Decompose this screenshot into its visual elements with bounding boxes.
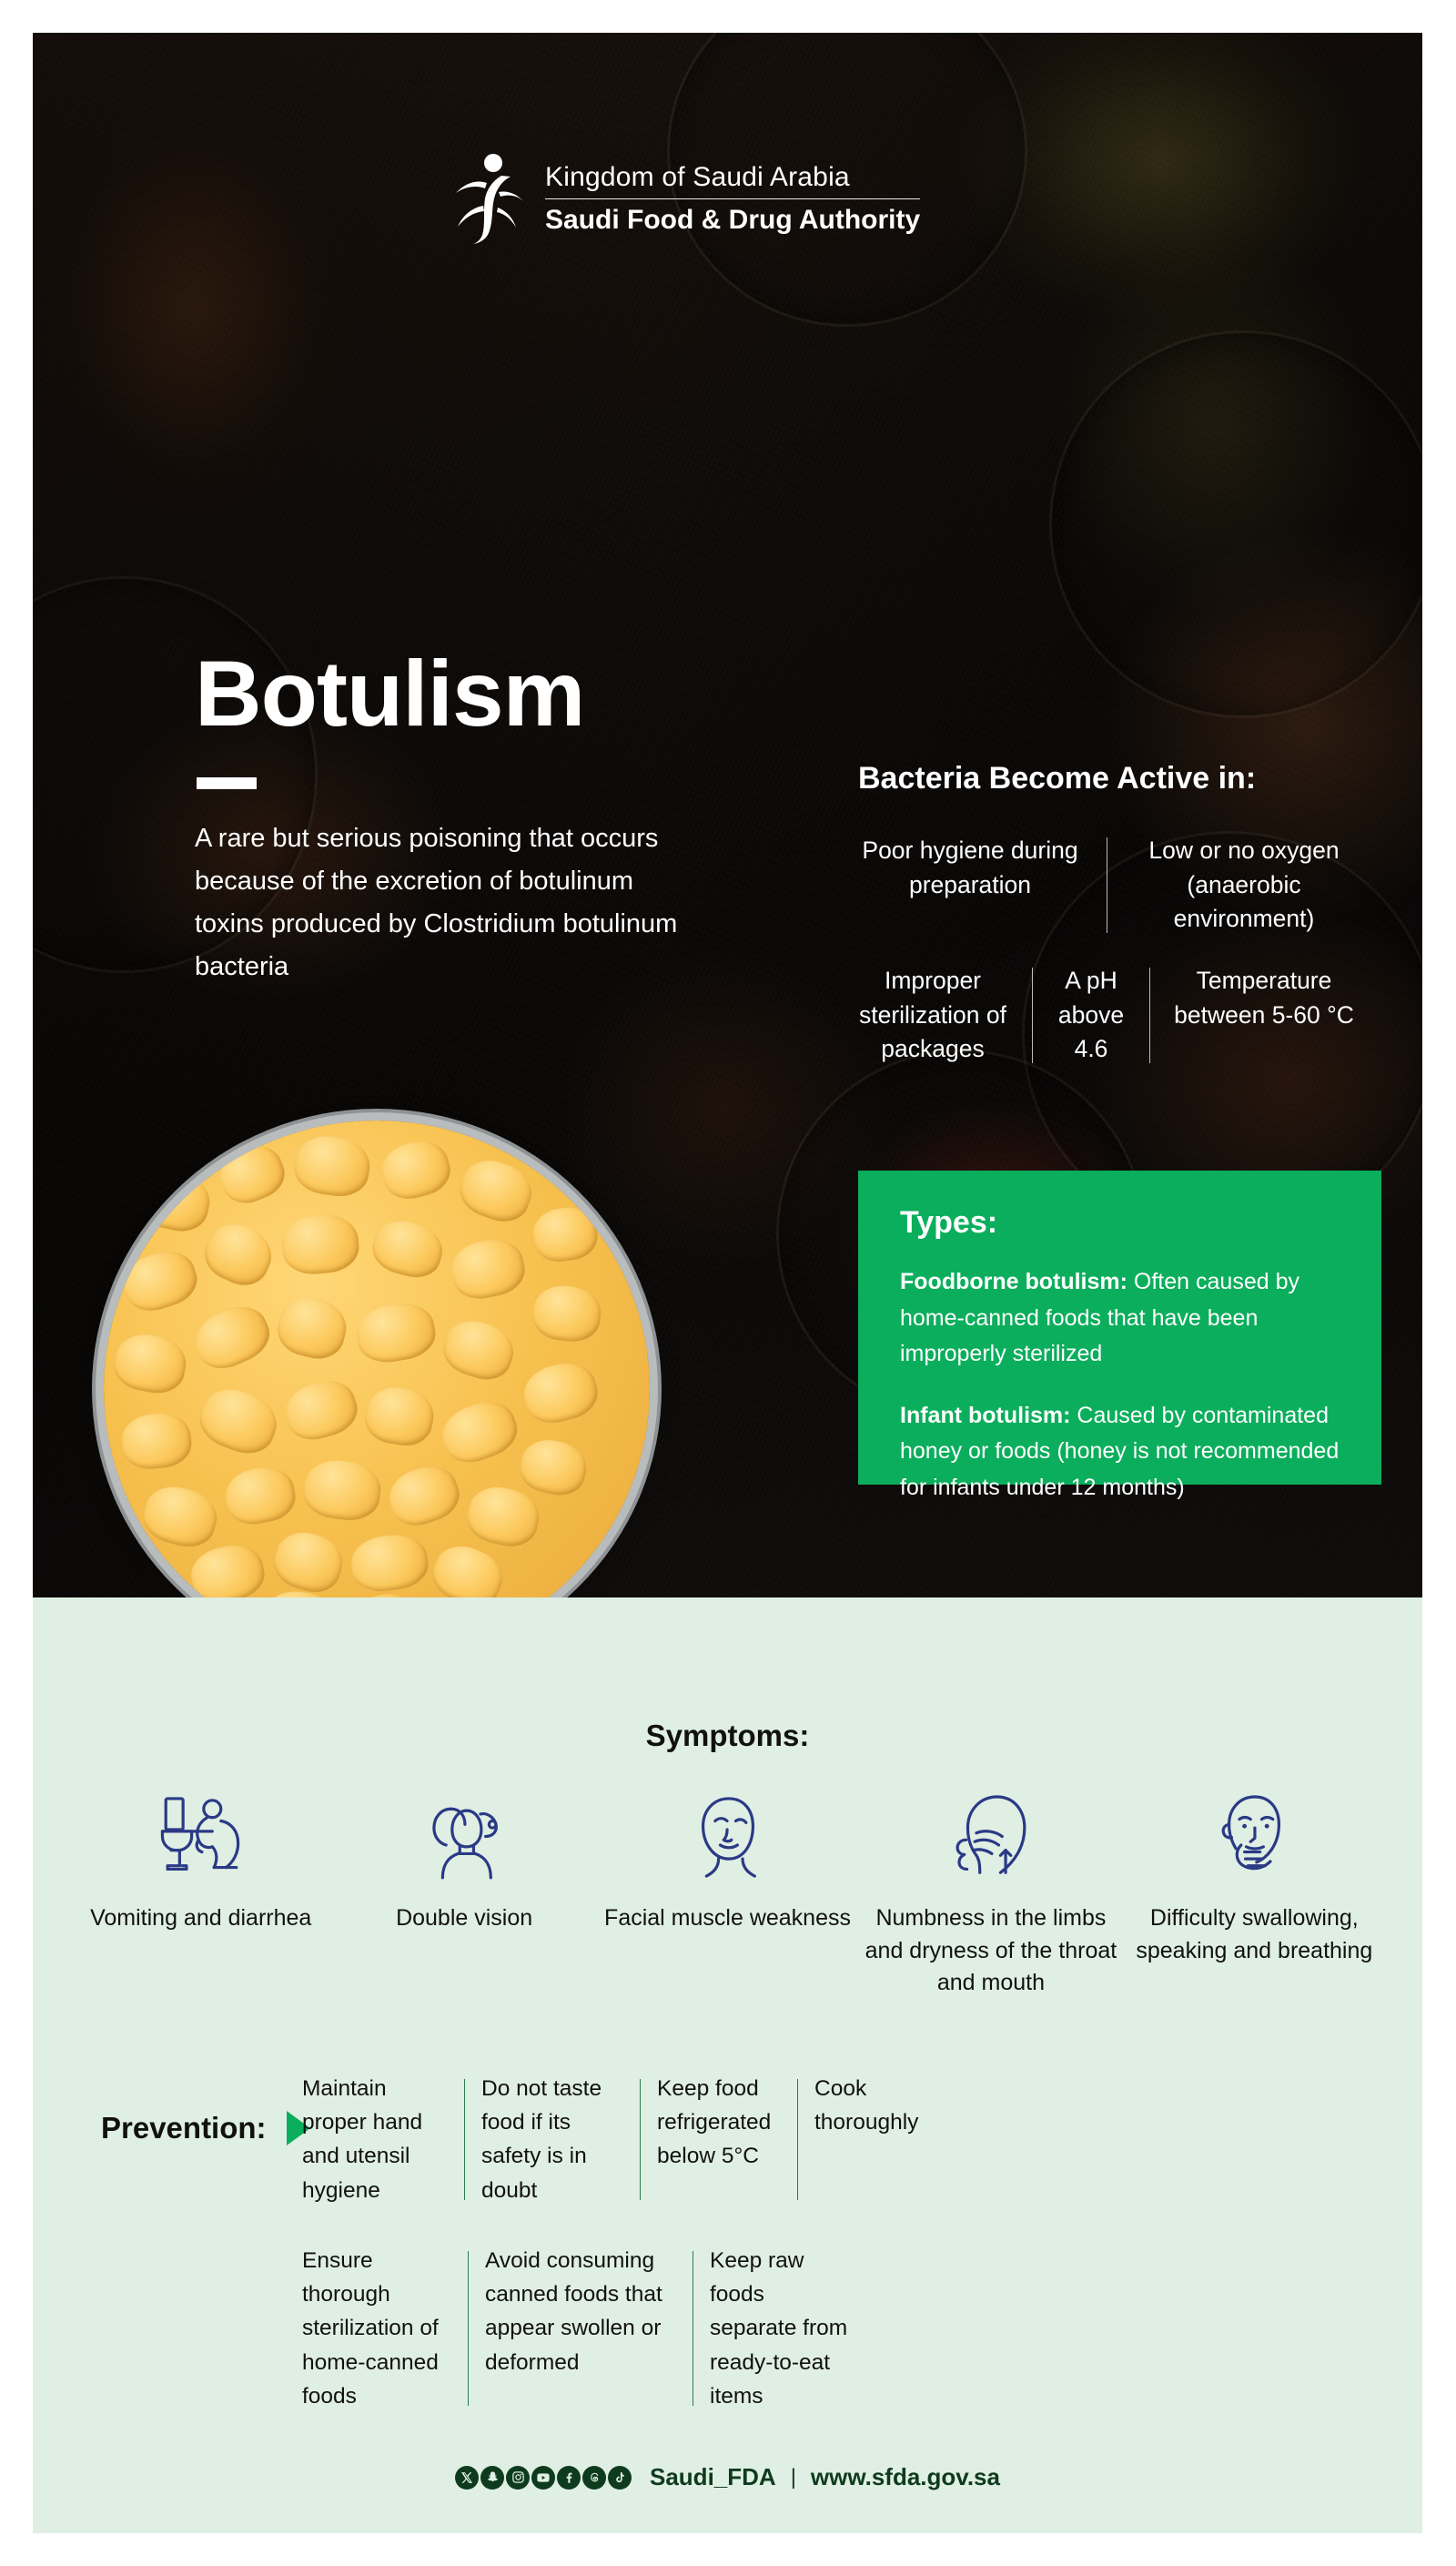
symptom-label: Numbness in the limbs and dryness of the…	[859, 1902, 1122, 2000]
bacteria-conditions-grid: Poor hygiene during preparation Low or n…	[834, 834, 1407, 1067]
symptom-item: Double vision	[332, 1791, 595, 2000]
type-item: Infant botulism: Caused by contaminated …	[900, 1398, 1340, 1506]
symptoms-section-title: Symptoms:	[33, 1719, 1422, 1753]
symptom-item: Numbness in the limbs and dryness of the…	[859, 1791, 1122, 2000]
sfda-runner-logo-icon	[447, 151, 529, 247]
types-title: Types:	[900, 1205, 1340, 1241]
prevention-row-2: Ensure thorough sterilization of home-ca…	[286, 2244, 1360, 2413]
vomiting-toilet-icon	[154, 1791, 248, 1882]
facial-weakness-icon	[681, 1791, 775, 1882]
prevention-section-title: Prevention:	[101, 2111, 310, 2145]
symptom-item: Difficulty swallowing, speaking and brea…	[1123, 1791, 1386, 2000]
prevention-label-text: Prevention:	[101, 2111, 267, 2145]
symptoms-list: Vomiting and diarrhea Double vision	[69, 1791, 1386, 2000]
bacteria-row-1: Poor hygiene during preparation Low or n…	[834, 834, 1407, 937]
sfda-logo: Kingdom of Saudi Arabia Saudi Food & Dru…	[447, 151, 920, 247]
symptom-item: Vomiting and diarrhea	[69, 1791, 332, 2000]
prevention-item: Cook thoroughly	[798, 2072, 935, 2207]
youtube-icon[interactable]	[531, 2466, 555, 2490]
footer-separator: |	[791, 2465, 796, 2490]
prevention-item: Do not taste food if its safety is in do…	[465, 2072, 640, 2207]
double-vision-icon	[417, 1791, 511, 1882]
difficulty-swallowing-icon	[1207, 1791, 1301, 1882]
instagram-icon[interactable]	[506, 2466, 530, 2490]
prevention-item: Avoid consuming canned foods that appear…	[469, 2244, 693, 2413]
logo-line-authority: Saudi Food & Drug Authority	[545, 199, 920, 238]
prevention-item: Keep food refrigerated below 5°C	[641, 2072, 797, 2207]
symptom-label: Vomiting and diarrhea	[90, 1902, 311, 1935]
prevention-row-1: Maintain proper hand and utensil hygiene…	[286, 2072, 1360, 2207]
bacteria-section-title: Bacteria Become Active in:	[858, 761, 1256, 796]
prevention-grid: Maintain proper hand and utensil hygiene…	[286, 2072, 1360, 2413]
footer-bar: Saudi_FDA | www.sfda.gov.sa	[33, 2463, 1422, 2491]
symptom-label: Difficulty swallowing, speaking and brea…	[1123, 1902, 1386, 1967]
logo-line-kingdom: Kingdom of Saudi Arabia	[545, 161, 920, 199]
intro-paragraph: A rare but serious poisoning that occurs…	[195, 817, 704, 989]
symptom-label: Double vision	[396, 1902, 532, 1935]
type-item: Foodborne botulism: Often caused by home…	[900, 1264, 1340, 1373]
bacteria-item: Temperature between 5-60 °C	[1150, 964, 1378, 1067]
snapchat-icon[interactable]	[480, 2466, 504, 2490]
title-underline-rule	[197, 777, 257, 789]
types-callout-box: Types: Foodborne botulism: Often caused …	[858, 1171, 1381, 1485]
x-icon[interactable]	[455, 2466, 479, 2490]
throat-dryness-icon	[944, 1791, 1038, 1882]
symptom-label: Facial muscle weakness	[604, 1902, 851, 1935]
bacteria-row-2: Improper sterilization of packages A pH …	[834, 964, 1407, 1067]
prevention-item: Ensure thorough sterilization of home-ca…	[286, 2244, 468, 2413]
page-title: Botulism	[195, 647, 584, 740]
prevention-item: Maintain proper hand and utensil hygiene	[286, 2072, 464, 2207]
infographic-poster: Kingdom of Saudi Arabia Saudi Food & Dru…	[33, 33, 1422, 2533]
threads-icon[interactable]	[582, 2466, 606, 2490]
website-url[interactable]: www.sfda.gov.sa	[811, 2463, 1000, 2491]
tiktok-icon[interactable]	[608, 2466, 632, 2490]
social-handle: Saudi_FDA	[650, 2463, 776, 2491]
bacteria-item: Low or no oxygen (anaerobic environment)	[1107, 834, 1380, 937]
prevention-item: Keep raw foods separate from ready-to-ea…	[693, 2244, 866, 2413]
social-links[interactable]	[455, 2466, 632, 2490]
symptom-item: Facial muscle weakness	[596, 1791, 859, 2000]
type-term: Infant botulism:	[900, 1403, 1070, 1428]
facebook-icon[interactable]	[557, 2466, 581, 2490]
type-term: Foodborne botulism:	[900, 1269, 1127, 1294]
bacteria-item: A pH above 4.6	[1033, 964, 1149, 1067]
bacteria-item: Improper sterilization of packages	[834, 964, 1032, 1067]
bacteria-item: Poor hygiene during preparation	[834, 834, 1107, 937]
